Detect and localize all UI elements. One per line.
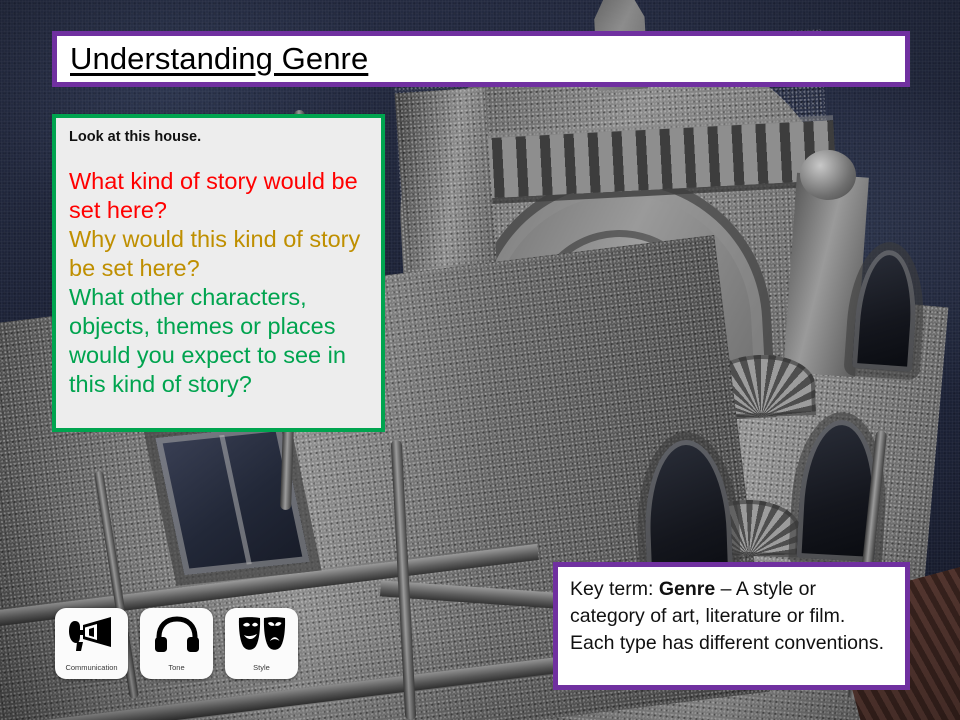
slide: Understanding Genre Look at this house. …: [0, 0, 960, 720]
style-chip[interactable]: Style: [225, 608, 298, 679]
style-label: Style: [253, 663, 270, 672]
page-title: Understanding Genre: [57, 41, 368, 77]
icon-row: Communication Tone Style: [55, 608, 298, 679]
tone-chip[interactable]: Tone: [140, 608, 213, 679]
question-box: Look at this house. What kind of story w…: [52, 114, 385, 432]
key-term-prefix: Key term:: [570, 578, 659, 600]
question-1: What kind of story would be set here?: [69, 167, 369, 225]
key-term-word: Genre: [659, 578, 715, 600]
tone-label: Tone: [168, 663, 184, 672]
tone-icon: [153, 615, 201, 653]
style-icon: [236, 615, 288, 653]
communication-icon: [67, 615, 117, 653]
question-2: Why would this kind of story be set here…: [69, 225, 369, 283]
question-lead-text: Look at this house.: [69, 129, 369, 145]
question-3: What other characters, objects, themes o…: [69, 283, 369, 399]
key-term-text: Key term: Genre – A style or category of…: [570, 576, 895, 657]
communication-label: Communication: [65, 663, 117, 672]
title-box: Understanding Genre: [52, 31, 910, 87]
key-term-box: Key term: Genre – A style or category of…: [553, 562, 910, 690]
communication-chip[interactable]: Communication: [55, 608, 128, 679]
